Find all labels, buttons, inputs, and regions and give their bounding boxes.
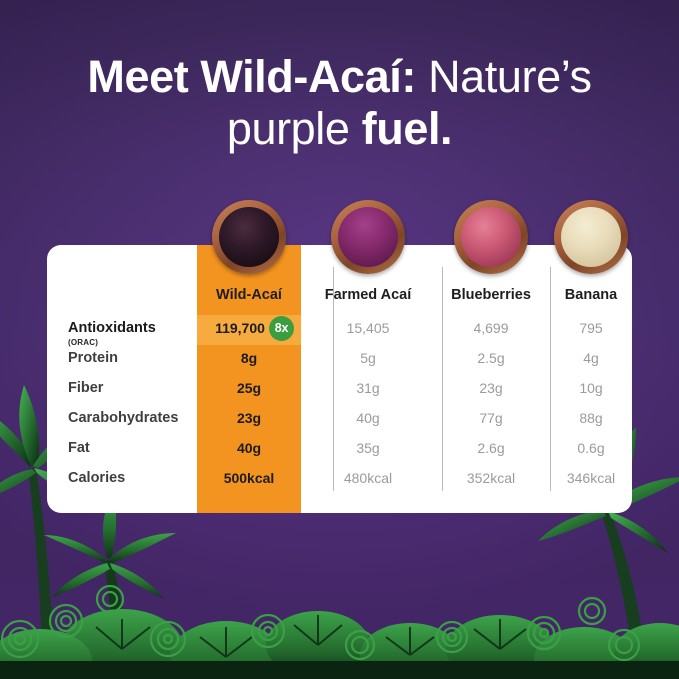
wild-acai-bowl [212, 200, 286, 274]
nutrition-comparison-table: Wild-Acaí Farmed Acaí Blueberries Banana… [47, 245, 632, 513]
cell-carbohydrates-wild-acai: 23g [197, 407, 301, 429]
cell-fat-farmed-acai: 35g [305, 437, 431, 459]
cell-fiber-blueberries: 23g [434, 377, 548, 399]
bowl-powder [219, 207, 279, 267]
product-bowls-row [47, 200, 632, 280]
headline-regular-part: Nature’s [416, 51, 592, 102]
bowl-powder [561, 207, 621, 267]
table-row: Carabohydrates 23g 40g 77g 88g [47, 407, 632, 437]
cell-calories-farmed-acai: 480kcal [305, 467, 431, 489]
row-label-calories: Calories [68, 467, 125, 489]
column-header-banana: Banana [552, 287, 630, 303]
row-label-text: Antioxidants [68, 320, 156, 336]
column-header-farmed-acai: Farmed Acaí [305, 287, 431, 303]
bowl-powder [461, 207, 521, 267]
infographic-poster: Meet Wild-Acaí: Nature’s purple fuel. Wi… [0, 0, 679, 679]
cell-calories-blueberries: 352kcal [434, 467, 548, 489]
table-row: Antioxidants (ORAC) 119,700 8x 15,405 4,… [47, 317, 632, 347]
row-label-antioxidants: Antioxidants (ORAC) [68, 317, 156, 347]
row-label-fiber: Fiber [68, 377, 103, 399]
cell-calories-wild-acai: 500kcal [197, 467, 301, 489]
multiplier-badge-8x: 8x [269, 316, 294, 341]
headline-line2-regular: purple [227, 103, 362, 154]
row-sublabel-orac: (ORAC) [68, 338, 156, 347]
page-title: Meet Wild-Acaí: Nature’s purple fuel. [0, 52, 679, 155]
row-label-protein: Protein [68, 347, 118, 369]
table-column-headers: Wild-Acaí Farmed Acaí Blueberries Banana [47, 287, 632, 311]
table-body: Antioxidants (ORAC) 119,700 8x 15,405 4,… [47, 317, 632, 497]
row-label-carbohydrates: Carabohydrates [68, 407, 178, 429]
cell-carbohydrates-blueberries: 77g [434, 407, 548, 429]
table-row: Fat 40g 35g 2.6g 0.6g [47, 437, 632, 467]
column-header-blueberries: Blueberries [434, 287, 548, 303]
bowl-powder [338, 207, 398, 267]
cell-fat-banana: 0.6g [552, 437, 630, 459]
cell-fiber-wild-acai: 25g [197, 377, 301, 399]
cell-carbohydrates-farmed-acai: 40g [305, 407, 431, 429]
cell-protein-wild-acai: 8g [197, 347, 301, 369]
cell-antioxidants-farmed-acai: 15,405 [305, 317, 431, 339]
table-row: Protein 8g 5g 2.5g 4g [47, 347, 632, 377]
cell-fat-wild-acai: 40g [197, 437, 301, 459]
cell-fat-blueberries: 2.6g [434, 437, 548, 459]
cell-protein-blueberries: 2.5g [434, 347, 548, 369]
cell-antioxidants-blueberries: 4,699 [434, 317, 548, 339]
headline-line2-bold: fuel. [362, 103, 453, 154]
row-label-fat: Fat [68, 437, 90, 459]
banana-bowl [554, 200, 628, 274]
cell-fiber-banana: 10g [552, 377, 630, 399]
comparison-table-card: Wild-Acaí Farmed Acaí Blueberries Banana… [47, 245, 632, 513]
column-header-wild-acai: Wild-Acaí [197, 287, 301, 303]
blueberries-bowl [454, 200, 528, 274]
cell-protein-banana: 4g [552, 347, 630, 369]
headline-bold-part: Meet Wild-Acaí: [87, 51, 416, 102]
cell-calories-banana: 346kcal [552, 467, 630, 489]
table-row: Fiber 25g 31g 23g 10g [47, 377, 632, 407]
cell-antioxidants-banana: 795 [552, 317, 630, 339]
farmed-acai-bowl [331, 200, 405, 274]
cell-carbohydrates-banana: 88g [552, 407, 630, 429]
cell-protein-farmed-acai: 5g [305, 347, 431, 369]
table-row: Calories 500kcal 480kcal 352kcal 346kcal [47, 467, 632, 497]
cell-fiber-farmed-acai: 31g [305, 377, 431, 399]
